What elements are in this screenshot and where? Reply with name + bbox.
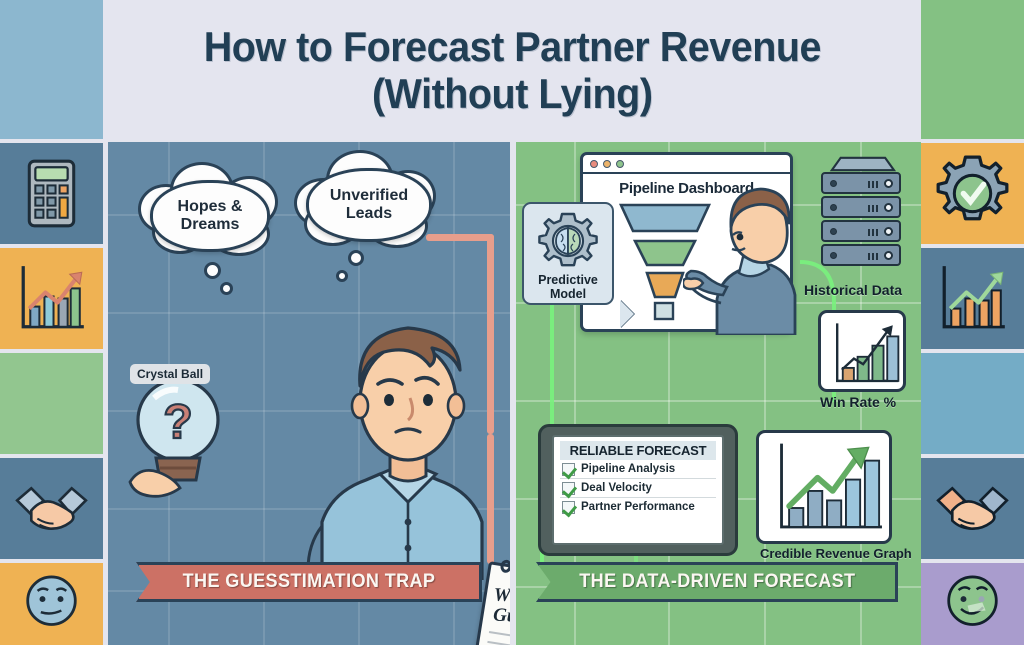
bar-chart-growth-icon [921, 248, 1024, 349]
calculator-icon [0, 143, 103, 244]
left-rail-tile-calculator [0, 143, 103, 244]
credible-revenue-graph-label: Credible Revenue Graph [760, 546, 912, 561]
happy-face-icon [921, 563, 1024, 645]
win-rate-label: Win Rate % [820, 394, 896, 410]
left-rail-tile-handshake [0, 458, 103, 559]
decorative-pipe-vertical [487, 234, 494, 434]
bubble-2-line-1: Unverified [330, 187, 408, 205]
right-rail-tile-happy-face [921, 563, 1024, 645]
funnel-stage-3 [647, 273, 683, 297]
predictive-model-label: Predictive Model [538, 274, 598, 302]
right-rail-tile-growth-chart [921, 248, 1024, 349]
win-rate-chart-card [818, 310, 906, 392]
bar-1 [843, 368, 854, 381]
checklist-item-label: Pipeline Analysis [581, 463, 675, 475]
bar-3 [827, 500, 841, 527]
bar-2 [808, 491, 822, 527]
notepad-line-2: Guess [493, 606, 510, 628]
checklist-item-label: Deal Velocity [581, 482, 652, 494]
checkbox-checked-icon[interactable] [562, 501, 575, 514]
left-rail-tile-blank-top [0, 0, 103, 139]
bubble-2-line-2: Leads [330, 205, 408, 223]
page-title-line-1: How to Forecast Partner Revenue [203, 23, 820, 70]
server-unit [821, 244, 901, 266]
reliable-forecast-tablet[interactable]: RELIABLE FORECAST Pipeline Analysis Deal… [538, 424, 738, 556]
bar-4 [846, 480, 860, 527]
bar-1 [789, 508, 803, 527]
bubble-1-line-2: Dreams [178, 216, 243, 234]
page-header: How to Forecast Partner Revenue (Without… [103, 0, 921, 140]
right-panel-data-driven: Pipeline Dashboard [516, 142, 921, 645]
bar-5 [865, 461, 879, 527]
server-unit [821, 196, 901, 218]
checklist-title: RELIABLE FORECAST [560, 441, 716, 460]
left-rail-tile-skeptical-face [0, 563, 103, 645]
handshake-icon [0, 458, 103, 559]
historical-data-label: Historical Data [804, 282, 902, 298]
right-rail-tile-gear-check [921, 143, 1024, 244]
server-rack-icon [818, 164, 906, 274]
predictive-model-callout-arrow [620, 300, 634, 328]
decorative-pipe-horizontal [426, 234, 494, 241]
checklist-item[interactable]: Deal Velocity [560, 479, 716, 498]
window-close-dot[interactable] [590, 160, 598, 168]
forecast-checklist-card: RELIABLE FORECAST Pipeline Analysis Deal… [552, 435, 724, 545]
right-rail-tile-handshake [921, 458, 1024, 559]
checkbox-checked-icon[interactable] [562, 463, 575, 476]
funnel-stage-4 [655, 303, 673, 319]
bar-4 [887, 336, 898, 380]
left-icon-rail [0, 0, 103, 645]
checklist-item-label: Partner Performance [581, 501, 695, 513]
checkbox-checked-icon[interactable] [562, 482, 575, 495]
left-rail-tile-growth-chart [0, 248, 103, 349]
skeptical-face-icon [0, 563, 103, 645]
crystal-ball-label: Crystal Ball [130, 364, 210, 384]
credible-revenue-graph-card [756, 430, 892, 544]
bar-chart-growth-icon [0, 248, 103, 349]
left-banner-label: THE GUESSTIMATION TRAP [183, 571, 436, 593]
predictive-model-line-2: Model [538, 288, 598, 302]
right-icon-rail [921, 0, 1024, 645]
server-unit [821, 220, 901, 242]
notepad-text: Wild Guess [493, 586, 510, 628]
page-title-line-2: (Without Lying) [372, 70, 653, 117]
left-panel-guesstimation: Hopes & Dreams Unverified Leads [108, 142, 510, 645]
infographic-root: How to Forecast Partner Revenue (Without… [0, 0, 1024, 645]
left-rail-tile-blank-green [0, 353, 103, 454]
decorative-pipe-vertical-lower [487, 434, 494, 564]
bubble-1-line-1: Hopes & [178, 198, 243, 216]
notepad-ring [500, 559, 510, 574]
checklist-item[interactable]: Partner Performance [560, 498, 716, 516]
worried-person-illustration [304, 290, 510, 580]
gear-brain-icon [528, 210, 608, 272]
gear-check-icon [921, 143, 1024, 244]
right-banner-data-driven-forecast: THE DATA-DRIVEN FORECAST [536, 562, 898, 602]
right-rail-tile-blank-blue [921, 353, 1024, 454]
checklist-item[interactable]: Pipeline Analysis [560, 460, 716, 479]
window-maximize-dot[interactable] [616, 160, 624, 168]
handshake-icon [921, 458, 1024, 559]
crystal-ball-question-mark: ? [163, 396, 192, 449]
predictive-model-card: Predictive Model [522, 202, 614, 305]
analyst-person-illustration [683, 187, 799, 335]
right-rail-tile-blank-green [921, 0, 1024, 139]
window-titlebar [583, 155, 790, 174]
crystal-ball-illustration: ? [126, 370, 246, 500]
predictive-model-line-1: Predictive [538, 274, 598, 288]
left-banner-guesstimation-trap: THE GUESSTIMATION TRAP [136, 562, 482, 602]
window-minimize-dot[interactable] [603, 160, 611, 168]
server-unit [821, 172, 901, 194]
right-banner-label: THE DATA-DRIVEN FORECAST [579, 571, 855, 593]
